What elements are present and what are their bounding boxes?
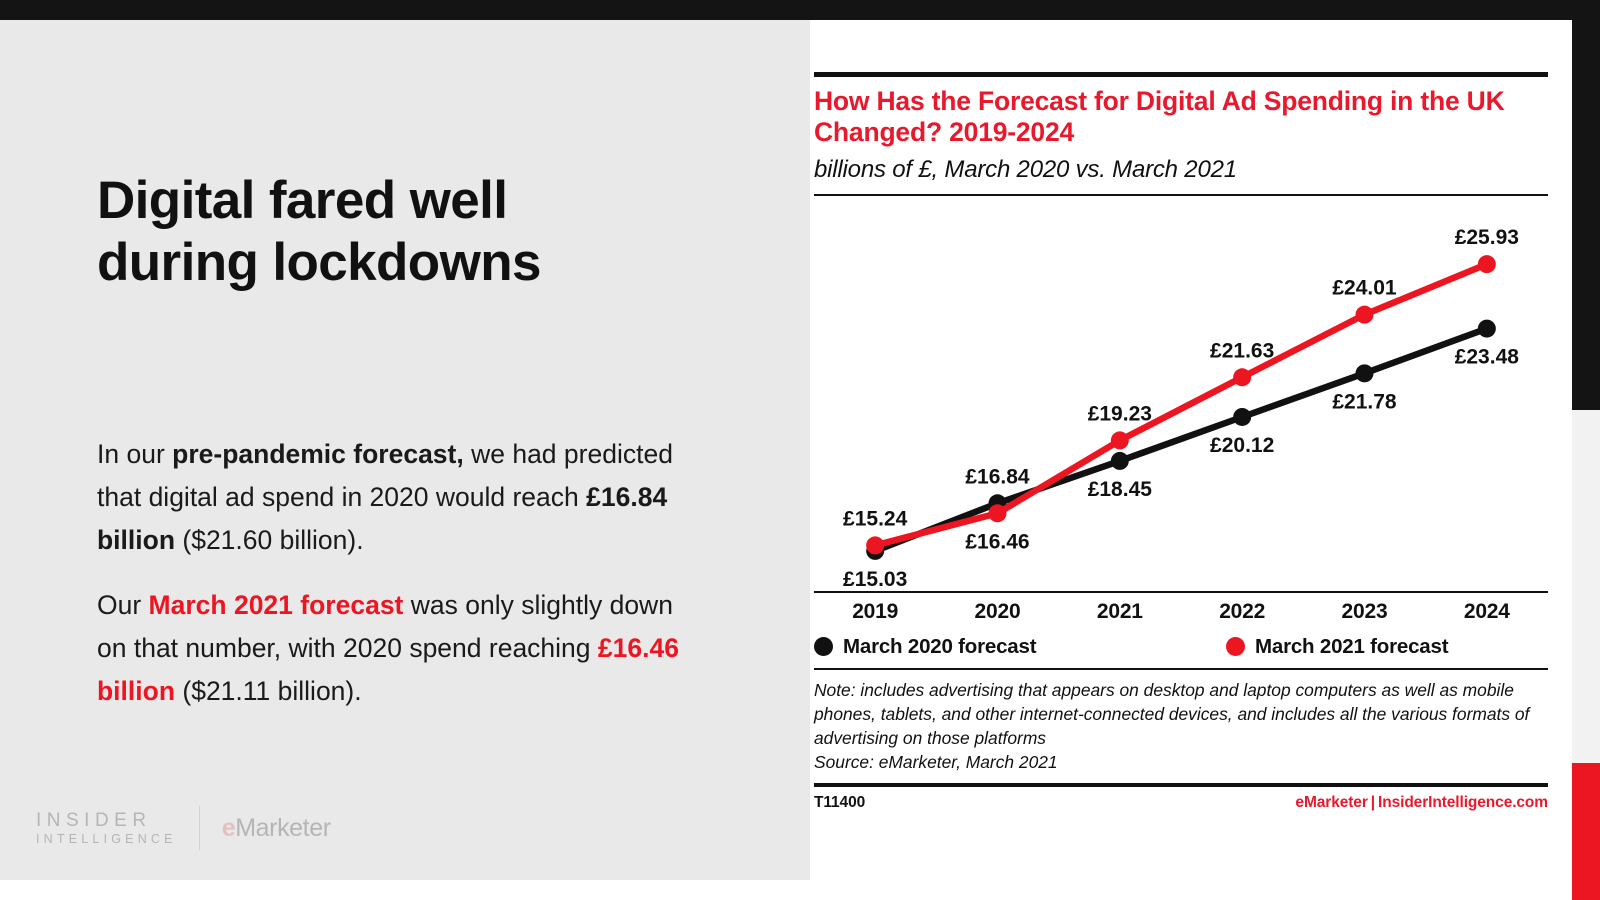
logo-intelligence-text: INTELLIGENCE — [36, 832, 177, 847]
legend-item-march-2021[interactable]: March 2021 forecast — [1181, 635, 1548, 659]
p1-seg3: ($21.60 billion). — [175, 525, 364, 555]
chart-header: How Has the Forecast for Digital Ad Spen… — [810, 20, 1572, 196]
emarketer-logo: eMarketer — [222, 814, 331, 843]
data-point-marker[interactable] — [1478, 255, 1496, 273]
data-label: £24.01 — [1332, 276, 1397, 299]
footer-separator: | — [1371, 794, 1375, 811]
data-label: £18.45 — [1088, 477, 1153, 500]
chart-source-text: Source: eMarketer, March 2021 — [814, 750, 1548, 774]
data-label: £20.12 — [1210, 434, 1274, 457]
legend-label-march-2020: March 2020 forecast — [843, 635, 1036, 659]
left-content-panel: Digital fared well during lockdowns In o… — [0, 20, 810, 880]
data-point-marker[interactable] — [1111, 431, 1129, 449]
x-axis-tick-2021: 2021 — [1059, 600, 1181, 624]
logo-emarketer-rest: Marketer — [235, 814, 330, 842]
logo-insider-text: INSIDER — [36, 809, 177, 832]
headline-line-1: Digital fared well — [97, 170, 737, 232]
data-point-marker[interactable] — [1233, 408, 1251, 426]
x-axis-tick-2019: 2019 — [814, 600, 936, 624]
paragraph-two: Our March 2021 forecast was only slightl… — [97, 584, 707, 713]
chart-legend: March 2020 forecast March 2021 forecast — [814, 635, 1548, 659]
logo-emarketer-e: e — [222, 814, 236, 842]
data-label: £19.23 — [1088, 402, 1152, 425]
brand-logo-lockup: INSIDER INTELLIGENCE eMarketer — [36, 806, 331, 850]
p2-seg3: ($21.11 billion). — [175, 676, 362, 706]
paragraph-one: In our pre-pandemic forecast, we had pre… — [97, 433, 707, 562]
data-label: £16.84 — [965, 465, 1030, 488]
insider-intelligence-logo: INSIDER INTELLIGENCE — [36, 809, 177, 847]
series-line-1 — [875, 328, 1487, 550]
legend-label-march-2021: March 2021 forecast — [1255, 635, 1448, 659]
chart-note-text: Note: includes advertising that appears … — [814, 680, 1529, 748]
body-copy: In our pre-pandemic forecast, we had pre… — [97, 433, 707, 713]
top-black-bar — [0, 0, 1600, 20]
data-point-marker[interactable] — [1356, 305, 1374, 323]
chart-notes: Note: includes advertising that appears … — [814, 668, 1548, 774]
data-point-marker[interactable] — [989, 504, 1007, 522]
chart-subtitle: billions of £, March 2020 vs. March 2021 — [810, 149, 1572, 194]
right-edge-red-strip — [1572, 763, 1600, 900]
legend-marker-red-dot-icon — [1226, 637, 1245, 656]
footer-website-link[interactable]: InsiderIntelligence.com — [1378, 794, 1548, 811]
chart-plot-area: £15.03£16.84£18.45£20.12£21.78£23.48£15.… — [814, 196, 1548, 591]
chart-footer: T11400 eMarketer|InsiderIntelligence.com — [814, 783, 1548, 812]
line-chart-svg: £15.03£16.84£18.45£20.12£21.78£23.48£15.… — [814, 196, 1548, 591]
headline-line-2: during lockdowns — [97, 232, 737, 294]
data-label: £15.03 — [843, 567, 907, 590]
data-point-marker[interactable] — [1233, 368, 1251, 386]
data-point-marker[interactable] — [1478, 319, 1496, 337]
data-label: £21.78 — [1332, 390, 1397, 413]
logo-divider — [199, 806, 200, 850]
p1-bold1: pre-pandemic forecast, — [172, 439, 464, 469]
data-point-marker[interactable] — [1111, 451, 1129, 469]
chart-footer-code: T11400 — [814, 794, 865, 812]
data-label: £23.48 — [1455, 345, 1520, 368]
chart-footer-brand: eMarketer|InsiderIntelligence.com — [1295, 794, 1548, 812]
legend-item-march-2020[interactable]: March 2020 forecast — [814, 635, 1181, 659]
x-axis-tick-2024: 2024 — [1426, 600, 1548, 624]
x-axis-tick-2022: 2022 — [1181, 600, 1303, 624]
page-title: Digital fared well during lockdowns — [97, 170, 737, 294]
data-label: £25.93 — [1455, 226, 1519, 249]
data-label: £15.24 — [843, 507, 908, 530]
p2-red1: March 2021 forecast — [149, 590, 404, 620]
slide-canvas: Digital fared well during lockdowns In o… — [0, 0, 1600, 900]
data-point-marker[interactable] — [866, 536, 884, 554]
data-point-marker[interactable] — [1356, 364, 1374, 382]
right-edge-black-strip — [1572, 20, 1600, 410]
data-label: £21.63 — [1210, 339, 1274, 362]
x-axis-tick-labels: 201920202021202220232024 — [814, 593, 1548, 624]
chart-panel: How Has the Forecast for Digital Ad Spen… — [810, 20, 1572, 880]
footer-emarketer-label: eMarketer — [1295, 794, 1367, 811]
right-edge-grey-strip — [1572, 410, 1600, 763]
x-axis-tick-2020: 2020 — [936, 600, 1058, 624]
data-label: £16.46 — [965, 530, 1029, 553]
chart-title: How Has the Forecast for Digital Ad Spen… — [810, 77, 1572, 149]
p1-seg1: In our — [97, 439, 172, 469]
legend-marker-black-dot-icon — [814, 637, 833, 656]
x-axis-tick-2023: 2023 — [1303, 600, 1425, 624]
p2-seg1: Our — [97, 590, 149, 620]
